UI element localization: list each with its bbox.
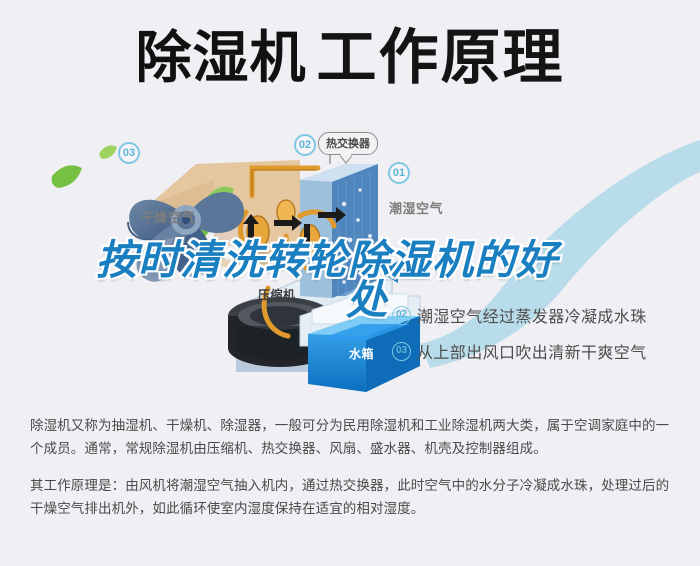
heat-exchanger-callout: 热交换器	[318, 132, 378, 155]
label-water-tank: 水箱	[349, 345, 374, 362]
list-item: 02 潮湿空气经过蒸发器冷凝成水珠	[392, 297, 692, 333]
legend-label-03: 从上部出风口吹出清新干爽空气	[417, 339, 647, 363]
body-copy: 除湿机又称为抽湿机、干燥机、除湿器，一般可分为民用除湿机和工业除湿机两大类，属于…	[30, 414, 678, 520]
body-paragraph-1: 除湿机又称为抽湿机、干燥机、除湿器，一般可分为民用除湿机和工业除湿机两大类，属于…	[30, 414, 678, 460]
label-dry-air: 干燥空气	[141, 207, 195, 226]
page-title: 除湿机工作原理	[0, 28, 700, 88]
legend-badge-02: 02	[392, 306, 411, 325]
body-paragraph-2: 其工作原理是：由风机将潮湿空气抽入机内，通过热交换器，此时空气中的水分子冷凝成水…	[30, 474, 678, 520]
list-item: 03 从上部出风口吹出清新干爽空气	[392, 333, 692, 369]
page-title-part1: 除湿机	[136, 30, 307, 86]
legend-badge-03: 03	[392, 342, 411, 361]
badge-03-dry-air: 03	[118, 142, 140, 164]
badge-02-heat-exchanger: 02	[294, 134, 316, 156]
badge-01-humid-air: 01	[388, 162, 410, 184]
legend-list: 02 潮湿空气经过蒸发器冷凝成水珠 03 从上部出风口吹出清新干爽空气	[392, 297, 692, 369]
label-compressor: 压缩机	[258, 286, 296, 303]
page-title-part2: 工作原理	[317, 28, 565, 88]
legend-label-02: 潮湿空气经过蒸发器冷凝成水珠	[417, 303, 647, 327]
dehumidifier-infographic-page: 除湿机工作原理	[0, 0, 700, 566]
label-humid-air: 潮湿空气	[389, 198, 443, 217]
